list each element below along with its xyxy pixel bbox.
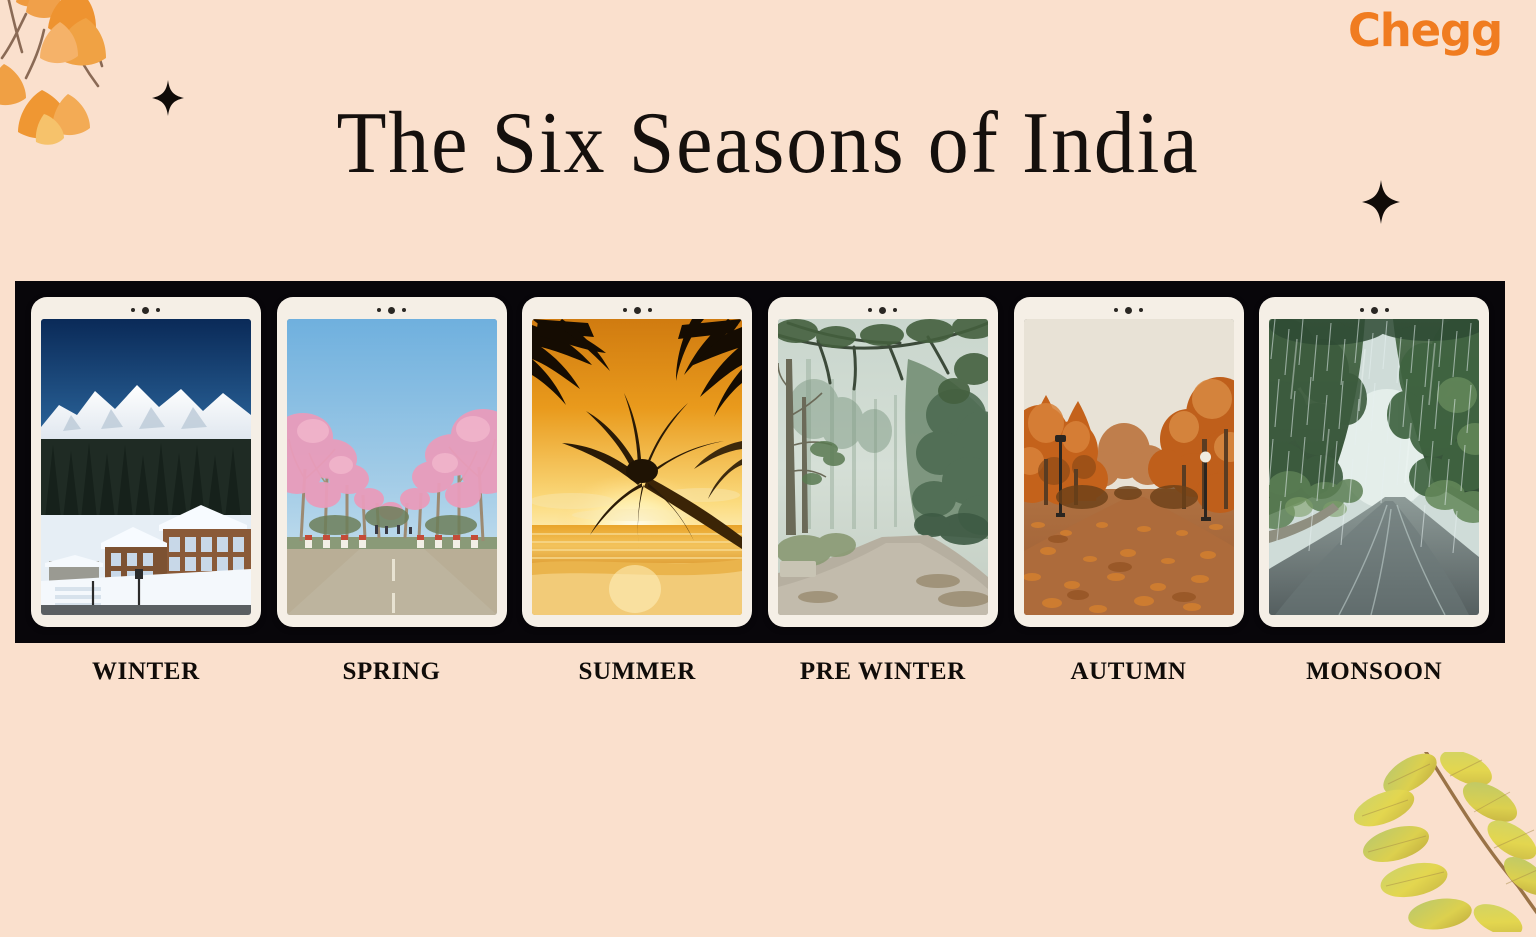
season-image-summer — [532, 319, 742, 615]
camera-dot-icon — [1114, 308, 1118, 312]
tablet-frame-spring[interactable] — [277, 297, 507, 627]
camera-dot-icon — [879, 307, 886, 314]
page-title: The Six Seasons of India — [54, 98, 1482, 190]
camera-dot-icon — [1385, 308, 1389, 312]
season-image-monsoon — [1269, 319, 1479, 615]
camera-dot-icon — [1139, 308, 1143, 312]
season-label-monsoon: MONSOON — [1251, 648, 1497, 696]
season-slot-summer — [514, 297, 760, 627]
tablet-frame-monsoon[interactable] — [1259, 297, 1489, 627]
tablet-frame-pre-winter[interactable] — [768, 297, 998, 627]
camera-dot-icon — [648, 308, 652, 312]
tablet-frame-summer[interactable] — [522, 297, 752, 627]
season-slot-spring — [269, 297, 515, 627]
season-slot-autumn — [1006, 297, 1252, 627]
tablet-frame-winter[interactable] — [31, 297, 261, 627]
poster-canvas: Chegg The Six Seasons of India — [0, 0, 1536, 922]
camera-dot-icon — [1371, 307, 1378, 314]
season-label-winter: WINTER — [23, 648, 269, 696]
tablet-camera-array — [1014, 305, 1244, 315]
season-label-pre-winter: PRE WINTER — [760, 648, 1006, 696]
camera-dot-icon — [388, 307, 395, 314]
camera-dot-icon — [142, 307, 149, 314]
tablet-camera-array — [31, 305, 261, 315]
season-label-row: WINTER SPRING SUMMER PRE WINTER AUTUMN M… — [15, 648, 1505, 696]
camera-dot-icon — [623, 308, 627, 312]
season-label-autumn: AUTUMN — [1006, 648, 1252, 696]
season-label-summer: SUMMER — [514, 648, 760, 696]
season-image-winter — [41, 319, 251, 615]
season-slot-winter — [23, 297, 269, 627]
season-image-spring — [287, 319, 497, 615]
camera-dot-icon — [1360, 308, 1364, 312]
season-tablet-row — [15, 281, 1505, 643]
tablet-camera-array — [768, 305, 998, 315]
leaf-branch-decoration — [1354, 752, 1536, 932]
season-slot-pre-winter — [760, 297, 1006, 627]
camera-dot-icon — [1125, 307, 1132, 314]
tablet-camera-array — [1259, 305, 1489, 315]
season-slot-monsoon — [1251, 297, 1497, 627]
camera-dot-icon — [131, 308, 135, 312]
camera-dot-icon — [377, 308, 381, 312]
camera-dot-icon — [156, 308, 160, 312]
tablet-camera-array — [522, 305, 752, 315]
season-image-autumn — [1024, 319, 1234, 615]
camera-dot-icon — [634, 307, 641, 314]
camera-dot-icon — [402, 308, 406, 312]
season-image-pre-winter — [778, 319, 988, 615]
camera-dot-icon — [868, 308, 872, 312]
camera-dot-icon — [893, 308, 897, 312]
season-label-spring: SPRING — [269, 648, 515, 696]
tablet-camera-array — [277, 305, 507, 315]
chegg-logo: Chegg — [1348, 8, 1502, 53]
tablet-frame-autumn[interactable] — [1014, 297, 1244, 627]
